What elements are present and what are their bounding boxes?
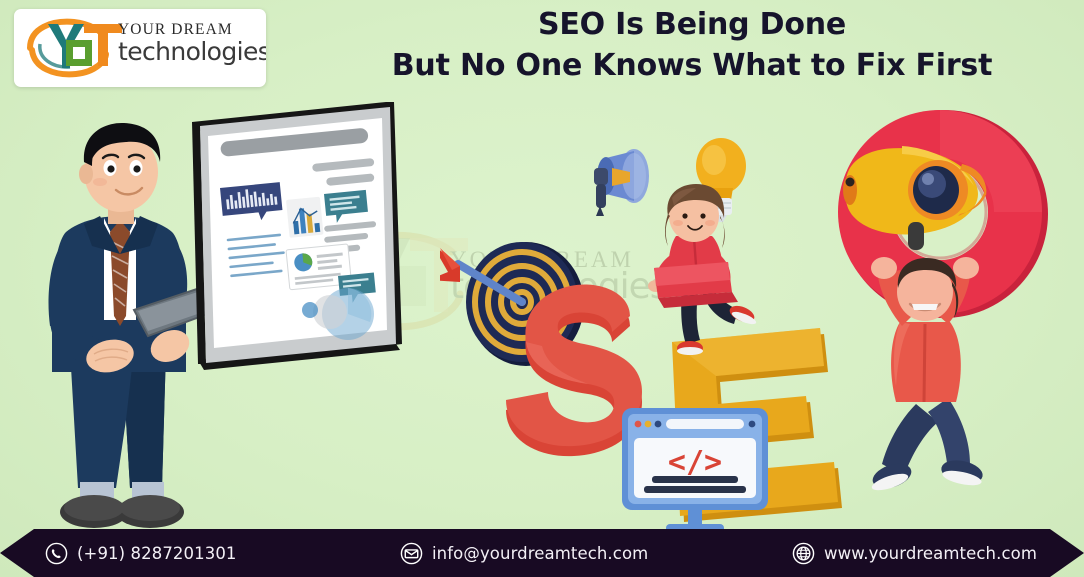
seo-illustration-scene: </> xyxy=(440,100,1084,532)
logo-mark-icon xyxy=(22,14,132,82)
email-icon xyxy=(400,542,423,565)
footer-email-text: info@yourdreamtech.com xyxy=(432,544,648,563)
footer-website[interactable]: www.yourdreamtech.com xyxy=(792,529,1037,577)
megaphone-icon xyxy=(594,149,649,216)
headline-line-2: But No One Knows What to Fix First xyxy=(300,45,1084,86)
page-title: SEO Is Being Done But No One Knows What … xyxy=(300,5,1084,86)
presentation-board xyxy=(190,98,440,388)
contact-footer: (+91) 8287201301 info@yourdreamtech.com … xyxy=(0,529,1084,577)
svg-text:</>: </> xyxy=(668,445,722,480)
company-logo[interactable]: YOUR DREAM technologies xyxy=(14,9,266,87)
footer-phone-text: (+91) 8287201301 xyxy=(77,544,237,563)
headline-line-1: SEO Is Being Done xyxy=(300,5,1084,45)
seo-marketing-banner: YOUR DREAM technologies SEO Is Being Don… xyxy=(0,0,1084,577)
seo-letter-o-with-carrier xyxy=(838,110,1048,494)
logo-line-1: YOUR DREAM xyxy=(118,22,263,38)
globe-icon xyxy=(792,542,815,565)
girl-with-laptop xyxy=(648,184,758,355)
logo-wordmark: YOUR DREAM technologies xyxy=(118,22,263,64)
logo-line-2: technologies xyxy=(118,39,263,64)
phone-icon xyxy=(45,542,68,565)
footer-phone[interactable]: (+91) 8287201301 xyxy=(45,529,237,577)
footer-website-text: www.yourdreamtech.com xyxy=(824,544,1037,563)
footer-email[interactable]: info@yourdreamtech.com xyxy=(400,529,648,577)
